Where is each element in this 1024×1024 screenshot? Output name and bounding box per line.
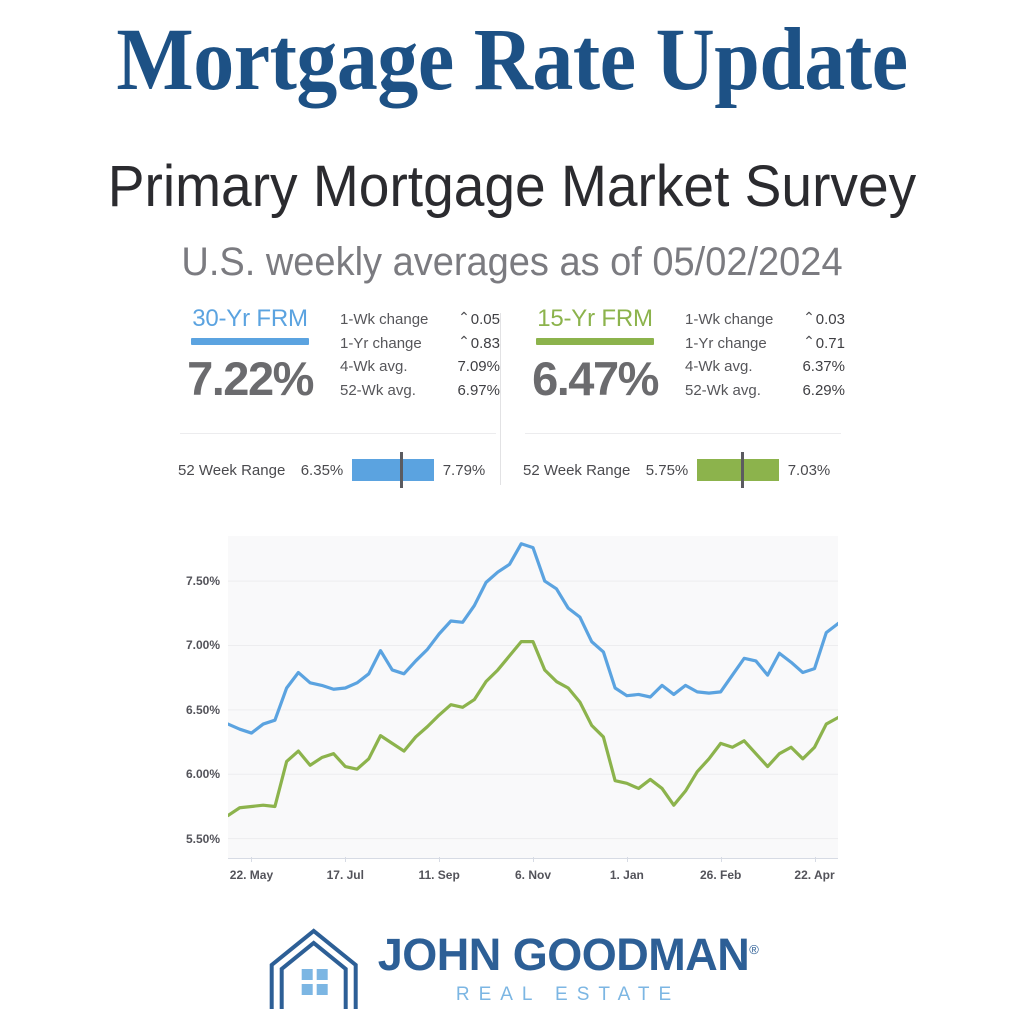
x-tick-mark (533, 857, 534, 862)
x-tick-label: 17. Jul (327, 868, 364, 882)
range-label: 52 Week Range (523, 462, 641, 479)
page-title: Mortgage Rate Update (41, 14, 983, 107)
panel-15yr-range: 52 Week Range 5.75% 7.03% (523, 453, 845, 487)
y-tick-label: 7.00% (186, 638, 220, 652)
x-tick-mark (815, 857, 816, 862)
x-tick-mark (721, 857, 722, 862)
chart-y-axis: 5.50%6.00%6.50%7.00%7.50% (150, 536, 220, 858)
panel-30yr-rate: 7.22% (178, 354, 322, 403)
metric-value: 6.29% (802, 379, 845, 403)
caret-up-icon: ⌃ (458, 305, 470, 329)
x-tick-label: 26. Feb (700, 868, 741, 882)
caret-up-icon: ⌃ (803, 305, 815, 329)
range-min: 6.35% (296, 462, 348, 479)
x-tick-label: 6. Nov (515, 868, 551, 882)
range-fill (352, 459, 434, 481)
metric-label: 1-Yr change (340, 332, 422, 356)
y-tick-label: 5.50% (186, 832, 220, 846)
range-label: 52 Week Range (178, 462, 296, 479)
metric-value: ⌃0.83 (458, 331, 500, 356)
panel-30yr-range: 52 Week Range 6.35% 7.79% (178, 453, 500, 487)
x-tick-label: 22. Apr (794, 868, 834, 882)
brand-logo: JOHN GOODMAN® REAL ESTATE (0, 925, 1024, 1020)
metric-value: ⌃0.71 (803, 331, 845, 356)
metric-value: 7.09% (457, 355, 500, 379)
panel-30yr-metrics: 1-Wk change ⌃0.05 1-Yr change ⌃0.83 4-Wk… (340, 307, 500, 403)
panel-30yr-frm: 30-Yr FRM 7.22% 1-Wk change ⌃0.05 1-Yr c… (178, 305, 500, 495)
registered-mark: ® (749, 942, 758, 957)
panel-15yr-metrics: 1-Wk change ⌃0.03 1-Yr change ⌃0.71 4-Wk… (685, 307, 845, 403)
range-marker (741, 452, 744, 488)
rate-history-chart (228, 536, 838, 858)
x-tick-label: 1. Jan (610, 868, 644, 882)
panel-30yr-hr (180, 433, 496, 434)
range-max: 7.79% (438, 462, 490, 479)
metric-row: 1-Wk change ⌃0.05 (340, 307, 500, 331)
metric-label: 1-Yr change (685, 332, 767, 356)
x-tick-mark (627, 857, 628, 862)
metric-label: 1-Wk change (340, 308, 428, 332)
stats-section: 30-Yr FRM 7.22% 1-Wk change ⌃0.05 1-Yr c… (178, 305, 846, 495)
chart-canvas (228, 536, 838, 858)
y-tick-label: 7.50% (186, 574, 220, 588)
house-icon (266, 925, 362, 1013)
page-subtitle: Primary Mortgage Market Survey (26, 155, 999, 219)
caret-up-icon: ⌃ (803, 329, 815, 353)
range-bar-15yr (697, 459, 779, 481)
metric-row: 4-Wk avg. 7.09% (340, 355, 500, 379)
metric-label: 1-Wk change (685, 308, 773, 332)
panel-15yr-underline (536, 338, 654, 345)
panel-15yr-rate: 6.47% (523, 354, 667, 403)
as-of-date: U.S. weekly averages as of 05/02/2024 (26, 240, 999, 284)
infographic-page: Mortgage Rate Update Primary Mortgage Ma… (0, 0, 1024, 1024)
range-max: 7.03% (783, 462, 835, 479)
chart-x-axis: 22. May17. Jul11. Sep6. Nov1. Jan26. Feb… (228, 862, 838, 886)
x-tick-label: 11. Sep (418, 868, 459, 882)
panel-15yr-label: 15-Yr FRM (523, 305, 667, 333)
logo-name: JOHN GOODMAN® (378, 932, 759, 977)
caret-up-icon: ⌃ (458, 329, 470, 353)
metric-row: 52-Wk avg. 6.29% (685, 379, 845, 403)
panel-15yr-hr (525, 433, 841, 434)
x-tick-mark (439, 857, 440, 862)
metric-row: 52-Wk avg. 6.97% (340, 379, 500, 403)
panel-divider (500, 313, 501, 485)
x-tick-mark (251, 857, 252, 862)
metric-label: 4-Wk avg. (340, 355, 408, 379)
metric-label: 4-Wk avg. (685, 355, 753, 379)
metric-label: 52-Wk avg. (340, 379, 416, 403)
range-marker (400, 452, 403, 488)
panel-30yr-underline (191, 338, 309, 345)
y-tick-label: 6.00% (186, 767, 220, 781)
y-tick-label: 6.50% (186, 703, 220, 717)
panel-15yr-frm: 15-Yr FRM 6.47% 1-Wk change ⌃0.03 1-Yr c… (523, 305, 845, 495)
metric-row: 1-Wk change ⌃0.03 (685, 307, 845, 331)
metric-label: 52-Wk avg. (685, 379, 761, 403)
metric-row: 1-Yr change ⌃0.71 (685, 331, 845, 355)
range-bar-30yr (352, 459, 434, 481)
metric-value: 6.37% (802, 355, 845, 379)
metric-row: 4-Wk avg. 6.37% (685, 355, 845, 379)
x-tick-label: 22. May (230, 868, 273, 882)
panel-30yr-head: 30-Yr FRM 7.22% (178, 305, 322, 403)
panel-15yr-head: 15-Yr FRM 6.47% (523, 305, 667, 403)
range-fill (697, 459, 779, 481)
x-tick-mark (345, 857, 346, 862)
metric-row: 1-Yr change ⌃0.83 (340, 331, 500, 355)
logo-tagline: REAL ESTATE (378, 984, 759, 1006)
metric-value: 6.97% (457, 379, 500, 403)
panel-30yr-label: 30-Yr FRM (178, 305, 322, 333)
range-min: 5.75% (641, 462, 693, 479)
